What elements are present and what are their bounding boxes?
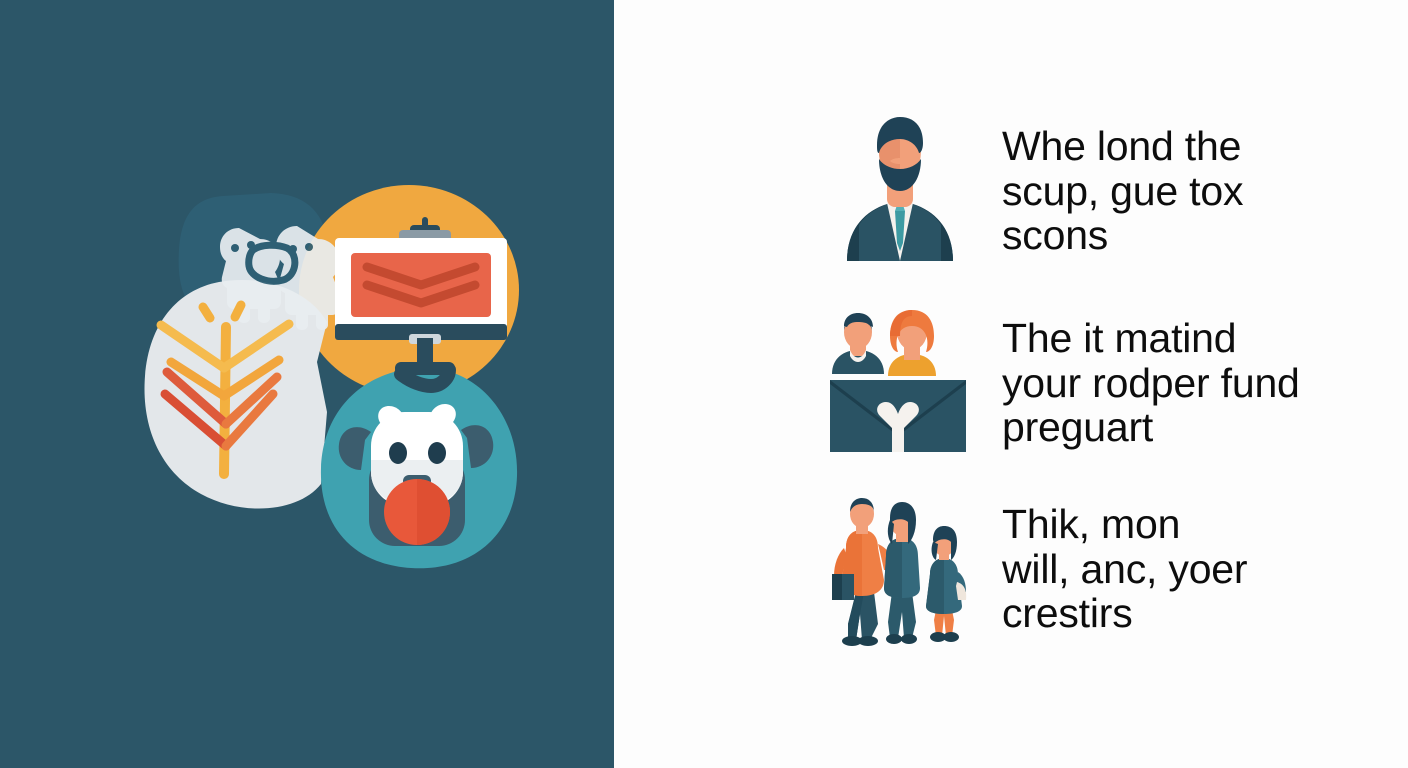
slide-root: Whe lond the scup, gue tox scons — [0, 0, 1408, 768]
list-item: Thik, mon will, anc, yoer crestirs — [826, 496, 1386, 646]
couple-envelope-icon — [826, 304, 974, 454]
list-item-text: The it matind your rodper fund preguart — [974, 304, 1386, 450]
list-item: The it matind your rodper fund preguart — [826, 304, 1386, 454]
bearded-man-avatar-icon — [826, 110, 974, 262]
list-item: Whe lond the scup, gue tox scons — [826, 110, 1386, 262]
community-collaboration-illustration — [131, 172, 527, 572]
list-item-text: Thik, mon will, anc, yoer crestirs — [974, 496, 1386, 636]
family-of-three-icon — [826, 496, 974, 646]
bullet-list: Whe lond the scup, gue tox scons — [826, 110, 1386, 646]
right-panel: Whe lond the scup, gue tox scons — [614, 0, 1408, 768]
list-item-text: Whe lond the scup, gue tox scons — [974, 110, 1386, 258]
left-panel — [0, 0, 614, 768]
